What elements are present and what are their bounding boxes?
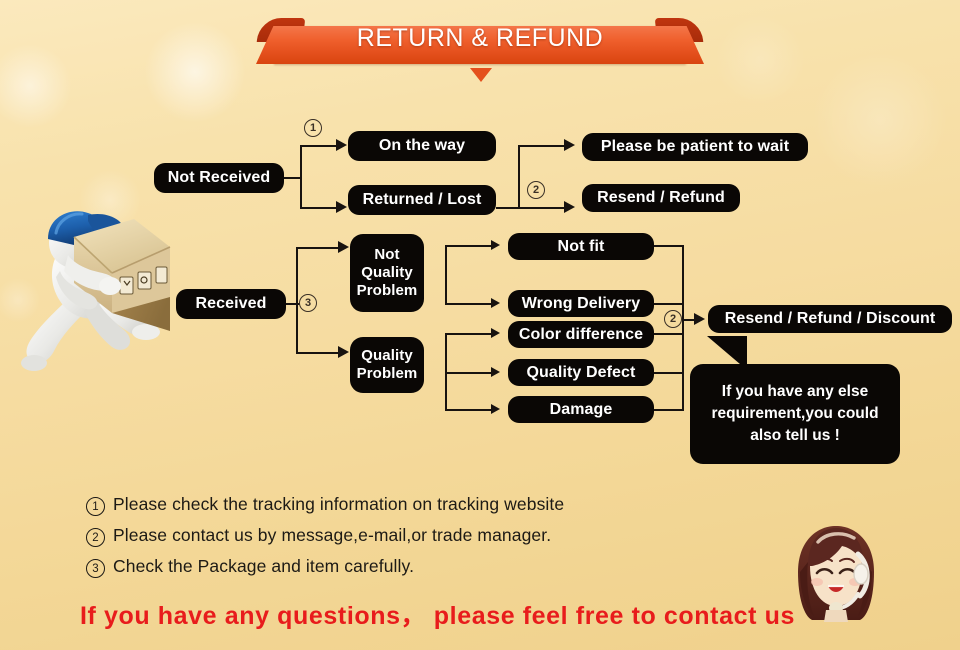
down-caret-icon [470, 68, 492, 82]
running-courier-with-box-icon [12, 185, 182, 380]
customer-service-headset-avatar-icon [788, 520, 884, 638]
connector-to-be-patient [518, 145, 566, 147]
instruction-notes: 1 Please check the tracking information … [86, 494, 564, 587]
callout-line-1: If you have any else [722, 381, 868, 403]
note-marker-3: 3 [86, 559, 105, 578]
callout-line-3: also tell us ! [750, 425, 840, 447]
node-on-the-way[interactable]: On the way [348, 131, 496, 161]
connector-to-on-the-way [300, 145, 338, 147]
node-quality-defect[interactable]: Quality Defect [508, 359, 654, 386]
arrowhead-wrong-delivery [491, 298, 500, 308]
note-text-2: Please contact us by message,e-mail,or t… [113, 525, 551, 546]
note-item: 1 Please check the tracking information … [86, 494, 564, 516]
banner-ribbon: RETURN & REFUND [258, 18, 702, 64]
connector-to-resend-refund [518, 207, 566, 209]
node-wrong-delivery[interactable]: Wrong Delivery [508, 290, 654, 317]
step-marker-3: 3 [299, 294, 317, 312]
node-color-difference[interactable]: Color difference [508, 321, 654, 348]
node-resend-refund-discount[interactable]: Resend / Refund / Discount [708, 305, 952, 333]
step-marker-2-bottom: 2 [664, 310, 682, 328]
arrowhead-color-difference [491, 328, 500, 338]
step-marker-2-top: 2 [527, 181, 545, 199]
arrowhead-resend-refund [564, 201, 575, 213]
connector-received-split [296, 248, 298, 354]
quality-line-2: Problem [357, 365, 418, 383]
return-refund-infographic: RETURN & REFUND Not Received 1 On the wa… [0, 0, 960, 650]
arrowhead-damage [491, 404, 500, 414]
arrowhead-returned-lost [336, 201, 347, 213]
arrowhead-not-fit [491, 240, 500, 250]
node-not-fit[interactable]: Not fit [508, 233, 654, 260]
connector-top-merge [518, 145, 520, 209]
connector-returned-lost-out [496, 207, 520, 209]
node-not-quality-problem[interactable]: Not Quality Problem [350, 234, 424, 312]
arrowhead-quality-defect [491, 367, 500, 377]
step-marker-1: 1 [304, 119, 322, 137]
node-received[interactable]: Received [176, 289, 286, 319]
arrowhead-on-the-way [336, 139, 347, 151]
note-marker-2: 2 [86, 528, 105, 547]
arrowhead-quality [338, 346, 349, 358]
connector-merge-quality-defect [654, 372, 684, 374]
connector-merge-color-difference [654, 333, 684, 335]
connector-to-color-difference [445, 333, 493, 335]
node-returned-lost[interactable]: Returned / Lost [348, 185, 496, 215]
connector-merge-spine [682, 245, 684, 411]
connector-to-damage [445, 409, 493, 411]
connector-to-not-fit [445, 245, 493, 247]
not-quality-line-2: Quality [361, 264, 413, 282]
callout-bubble: If you have any else requirement,you cou… [690, 364, 900, 464]
connector-merge-wrong-delivery [654, 303, 684, 305]
note-text-3: Check the Package and item carefully. [113, 556, 414, 577]
not-quality-line-1: Not [374, 246, 399, 264]
arrowhead-final-outcome [694, 313, 705, 325]
callout-line-2: requirement,you could [711, 403, 878, 425]
note-text-1: Please check the tracking information on… [113, 494, 564, 515]
connector-to-quality-defect [445, 372, 493, 374]
page-title: RETURN & REFUND [258, 24, 702, 53]
node-not-received[interactable]: Not Received [154, 163, 284, 193]
connector-merge-not-fit [654, 245, 684, 247]
not-quality-line-3: Problem [357, 282, 418, 300]
node-please-be-patient[interactable]: Please be patient to wait [582, 133, 808, 161]
arrowhead-not-quality [338, 241, 349, 253]
connector-merge-damage [654, 409, 684, 411]
connector-not-quality-fan [445, 245, 447, 305]
note-item: 2 Please contact us by message,e-mail,or… [86, 525, 564, 547]
connector-not-received-split [300, 146, 302, 209]
connector-to-returned-lost [300, 207, 338, 209]
arrowhead-be-patient [564, 139, 575, 151]
node-quality-problem[interactable]: Quality Problem [350, 337, 424, 393]
contact-tagline: If you have any questions， please feel f… [80, 596, 795, 632]
note-marker-1: 1 [86, 497, 105, 516]
note-item: 3 Check the Package and item carefully. [86, 556, 564, 578]
connector-to-quality [296, 352, 340, 354]
node-damage[interactable]: Damage [508, 396, 654, 423]
quality-line-1: Quality [361, 347, 413, 365]
connector-to-not-quality [296, 247, 340, 249]
node-resend-refund[interactable]: Resend / Refund [582, 184, 740, 212]
connector-to-wrong-delivery [445, 303, 493, 305]
